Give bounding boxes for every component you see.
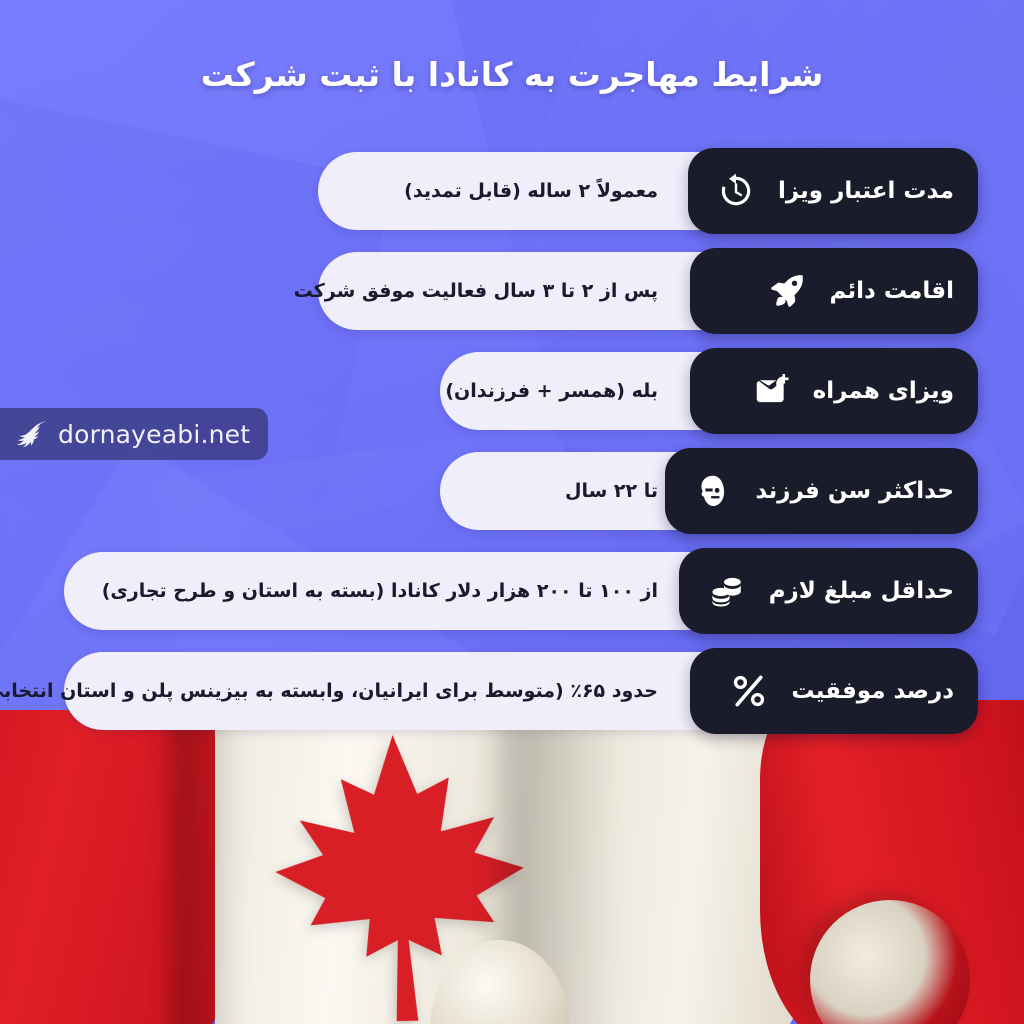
row-label-text: حداقل مبلغ لازم: [769, 578, 954, 604]
info-row: تا ۲۲ سال حداکثر سن فرزند: [0, 448, 1024, 534]
row-label-text: اقامت دائم: [829, 278, 954, 304]
row-label-text: حداکثر سن فرزند: [755, 478, 954, 504]
infographic-canvas: شرایط مهاجرت به کانادا با ثبت شرکت معمول…: [0, 0, 1024, 1024]
flag-band: [0, 710, 1024, 1024]
row-label-pill[interactable]: اقامت دائم: [690, 248, 978, 334]
row-label-pill[interactable]: ویزای همراه: [690, 348, 978, 434]
row-label-pill[interactable]: درصد موفقیت: [690, 648, 978, 734]
row-label-text: ویزای همراه: [813, 378, 954, 404]
row-label-text: مدت اعتبار ویزا: [778, 178, 954, 204]
info-row: حدود ۶۵٪ (متوسط برای ایرانیان، وابسته به…: [0, 648, 1024, 734]
coins-stack-icon: [705, 569, 749, 613]
row-label-text: درصد موفقیت: [791, 678, 954, 704]
watermark-badge[interactable]: dornayeabi.net: [0, 408, 268, 460]
row-label-pill[interactable]: حداقل مبلغ لازم: [679, 548, 978, 634]
row-value-text: معمولاً ۲ ساله (قابل تمدید): [404, 180, 658, 203]
row-value-text: از ۱۰۰ تا ۲۰۰ هزار دلار کانادا (بسته به …: [102, 580, 658, 603]
info-row: پس از ۲ تا ۳ سال فعالیت موفق شرکت اقامت …: [0, 248, 1024, 334]
percent-icon: [727, 669, 771, 713]
rocket-icon: [765, 269, 809, 313]
row-value-text: پس از ۲ تا ۳ سال فعالیت موفق شرکت: [294, 280, 658, 303]
row-value-text: حدود ۶۵٪ (متوسط برای ایرانیان، وابسته به…: [0, 680, 658, 703]
row-label-pill[interactable]: حداکثر سن فرزند: [665, 448, 978, 534]
watermark-text: dornayeabi.net: [58, 420, 250, 449]
row-label-pill[interactable]: مدت اعتبار ویزا: [688, 148, 978, 234]
child-face-icon: [691, 469, 735, 513]
crane-bird-icon: [14, 419, 48, 449]
row-value-text: بله (همسر + فرزندان): [445, 380, 658, 403]
envelope-plus-icon: [749, 369, 793, 413]
clock-history-icon: [714, 169, 758, 213]
info-row: معمولاً ۲ ساله (قابل تمدید) مدت اعتبار و…: [0, 148, 1024, 234]
page-title: شرایط مهاجرت به کانادا با ثبت شرکت: [0, 52, 1024, 98]
info-row: از ۱۰۰ تا ۲۰۰ هزار دلار کانادا (بسته به …: [0, 548, 1024, 634]
row-value-text: تا ۲۲ سال: [565, 480, 658, 503]
